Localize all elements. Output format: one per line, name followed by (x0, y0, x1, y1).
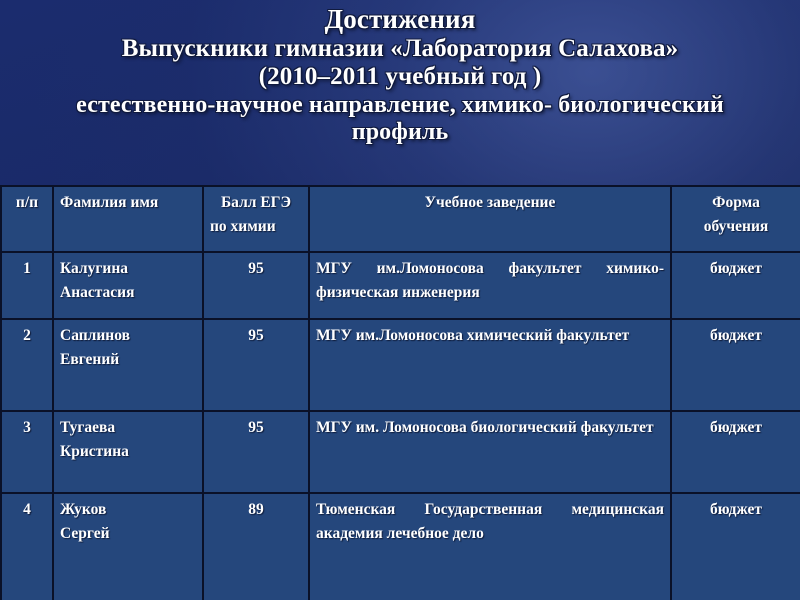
table-row: 3 Тугаева Кристина 95 МГУ им. Ломоносова… (1, 411, 800, 493)
row-exam-score: 95 (203, 319, 309, 411)
row-study-form: бюджет (671, 319, 800, 411)
row-exam-score: 95 (203, 252, 309, 319)
row-study-form: бюджет (671, 252, 800, 319)
student-firstname: Сергей (60, 525, 110, 542)
table-row: 1 Калугина Анастасия 95 МГУ им.Ломоносов… (1, 252, 800, 319)
column-header-score-line2: по химии (210, 215, 302, 239)
student-firstname: Анастасия (60, 284, 135, 301)
row-institution: МГУ им. Ломоносова биологический факульт… (309, 411, 671, 493)
row-number: 1 (1, 252, 53, 319)
slide-title-block: Достижения Выпускники гимназии «Лаборато… (0, 4, 800, 146)
column-header-score: Балл ЕГЭ по химии (203, 186, 309, 252)
slide-title-line-3: (2010–2011 учебный год ) (14, 63, 786, 92)
row-number: 2 (1, 319, 53, 411)
row-student-name: Саплинов Евгений (53, 319, 203, 411)
row-number: 4 (1, 493, 53, 600)
row-institution: Тюменская Государственная медицинская ак… (309, 493, 671, 600)
row-student-name: Тугаева Кристина (53, 411, 203, 493)
row-institution: МГУ им.Ломоносова химический факультет (309, 319, 671, 411)
slide-title-line-2: Выпускники гимназии «Лаборатория Салахов… (14, 35, 786, 64)
row-student-name: Жуков Сергей (53, 493, 203, 600)
student-surname: Калугина (60, 260, 128, 277)
table-row: 2 Саплинов Евгений 95 МГУ им.Ломоносова … (1, 319, 800, 411)
row-institution: МГУ им.Ломоносова факультет химико-физич… (309, 252, 671, 319)
table-header-row: п/п Фамилия имя Балл ЕГЭ по химии Учебно… (1, 186, 800, 252)
column-header-score-line1: Балл ЕГЭ (210, 191, 302, 215)
slide-title-line-1: Достижения (14, 4, 786, 35)
column-header-form-line2: обучения (704, 218, 769, 235)
column-header-form: Форма обучения (671, 186, 800, 252)
student-surname: Саплинов (60, 327, 130, 344)
column-header-number: п/п (1, 186, 53, 252)
row-student-name: Калугина Анастасия (53, 252, 203, 319)
row-study-form: бюджет (671, 411, 800, 493)
row-exam-score: 95 (203, 411, 309, 493)
student-firstname: Евгений (60, 351, 119, 368)
student-surname: Жуков (60, 501, 106, 518)
column-header-name: Фамилия имя (53, 186, 203, 252)
column-header-institution: Учебное заведение (309, 186, 671, 252)
row-exam-score: 89 (203, 493, 309, 600)
presentation-slide: Достижения Выпускники гимназии «Лаборато… (0, 0, 800, 600)
slide-title-line-4: естественно-научное направление, химико-… (14, 92, 786, 119)
student-surname: Тугаева (60, 419, 115, 436)
row-number: 3 (1, 411, 53, 493)
achievements-table: п/п Фамилия имя Балл ЕГЭ по химии Учебно… (0, 185, 800, 600)
slide-title-line-5: профиль (14, 119, 786, 146)
table-row: 4 Жуков Сергей 89 Тюменская Государствен… (1, 493, 800, 600)
row-study-form: бюджет (671, 493, 800, 600)
column-header-form-line1: Форма (712, 194, 760, 211)
student-firstname: Кристина (60, 443, 129, 460)
